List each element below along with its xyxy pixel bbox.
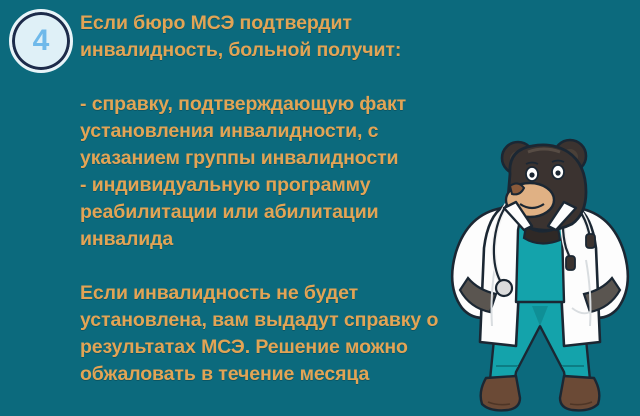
boots-group <box>481 376 600 410</box>
body-line: - индивидуальную программу <box>80 172 500 199</box>
footer-paragraph: Если инвалидность не будет установлена, … <box>80 280 500 388</box>
bear-doctor-illustration <box>440 130 640 416</box>
step-number-label: 4 <box>33 26 50 56</box>
infographic-slide: 4 Если бюро МСЭ подтвердит инвалидность,… <box>0 0 640 416</box>
paragraph-spacer <box>80 253 500 280</box>
body-line: указанием группы инвалидности <box>80 145 500 172</box>
heading-line: Если бюро МСЭ подтвердит <box>80 10 500 37</box>
footer-line: установлена, вам выдадут справку о <box>80 307 500 334</box>
text-column: Если бюро МСЭ подтвердит инвалидность, б… <box>80 10 500 388</box>
footer-line: результатах МСЭ. Решение можно <box>80 334 500 361</box>
body-line: реабилитации или абилитации <box>80 199 500 226</box>
body-line: инвалида <box>80 226 500 253</box>
footer-line: обжаловать в течение месяца <box>80 361 500 388</box>
body-line: - справку, подтверждающую факт <box>80 91 500 118</box>
step-number-badge: 4 <box>9 9 73 73</box>
body-line: установления инвалидности, с <box>80 118 500 145</box>
body-paragraph: - справку, подтверждающую факт установле… <box>80 91 500 253</box>
footer-line: Если инвалидность не будет <box>80 280 500 307</box>
paragraph-spacer <box>80 64 500 91</box>
heading-paragraph: Если бюро МСЭ подтвердит инвалидность, б… <box>80 10 500 64</box>
heading-line: инвалидность, больной получит: <box>80 37 500 64</box>
